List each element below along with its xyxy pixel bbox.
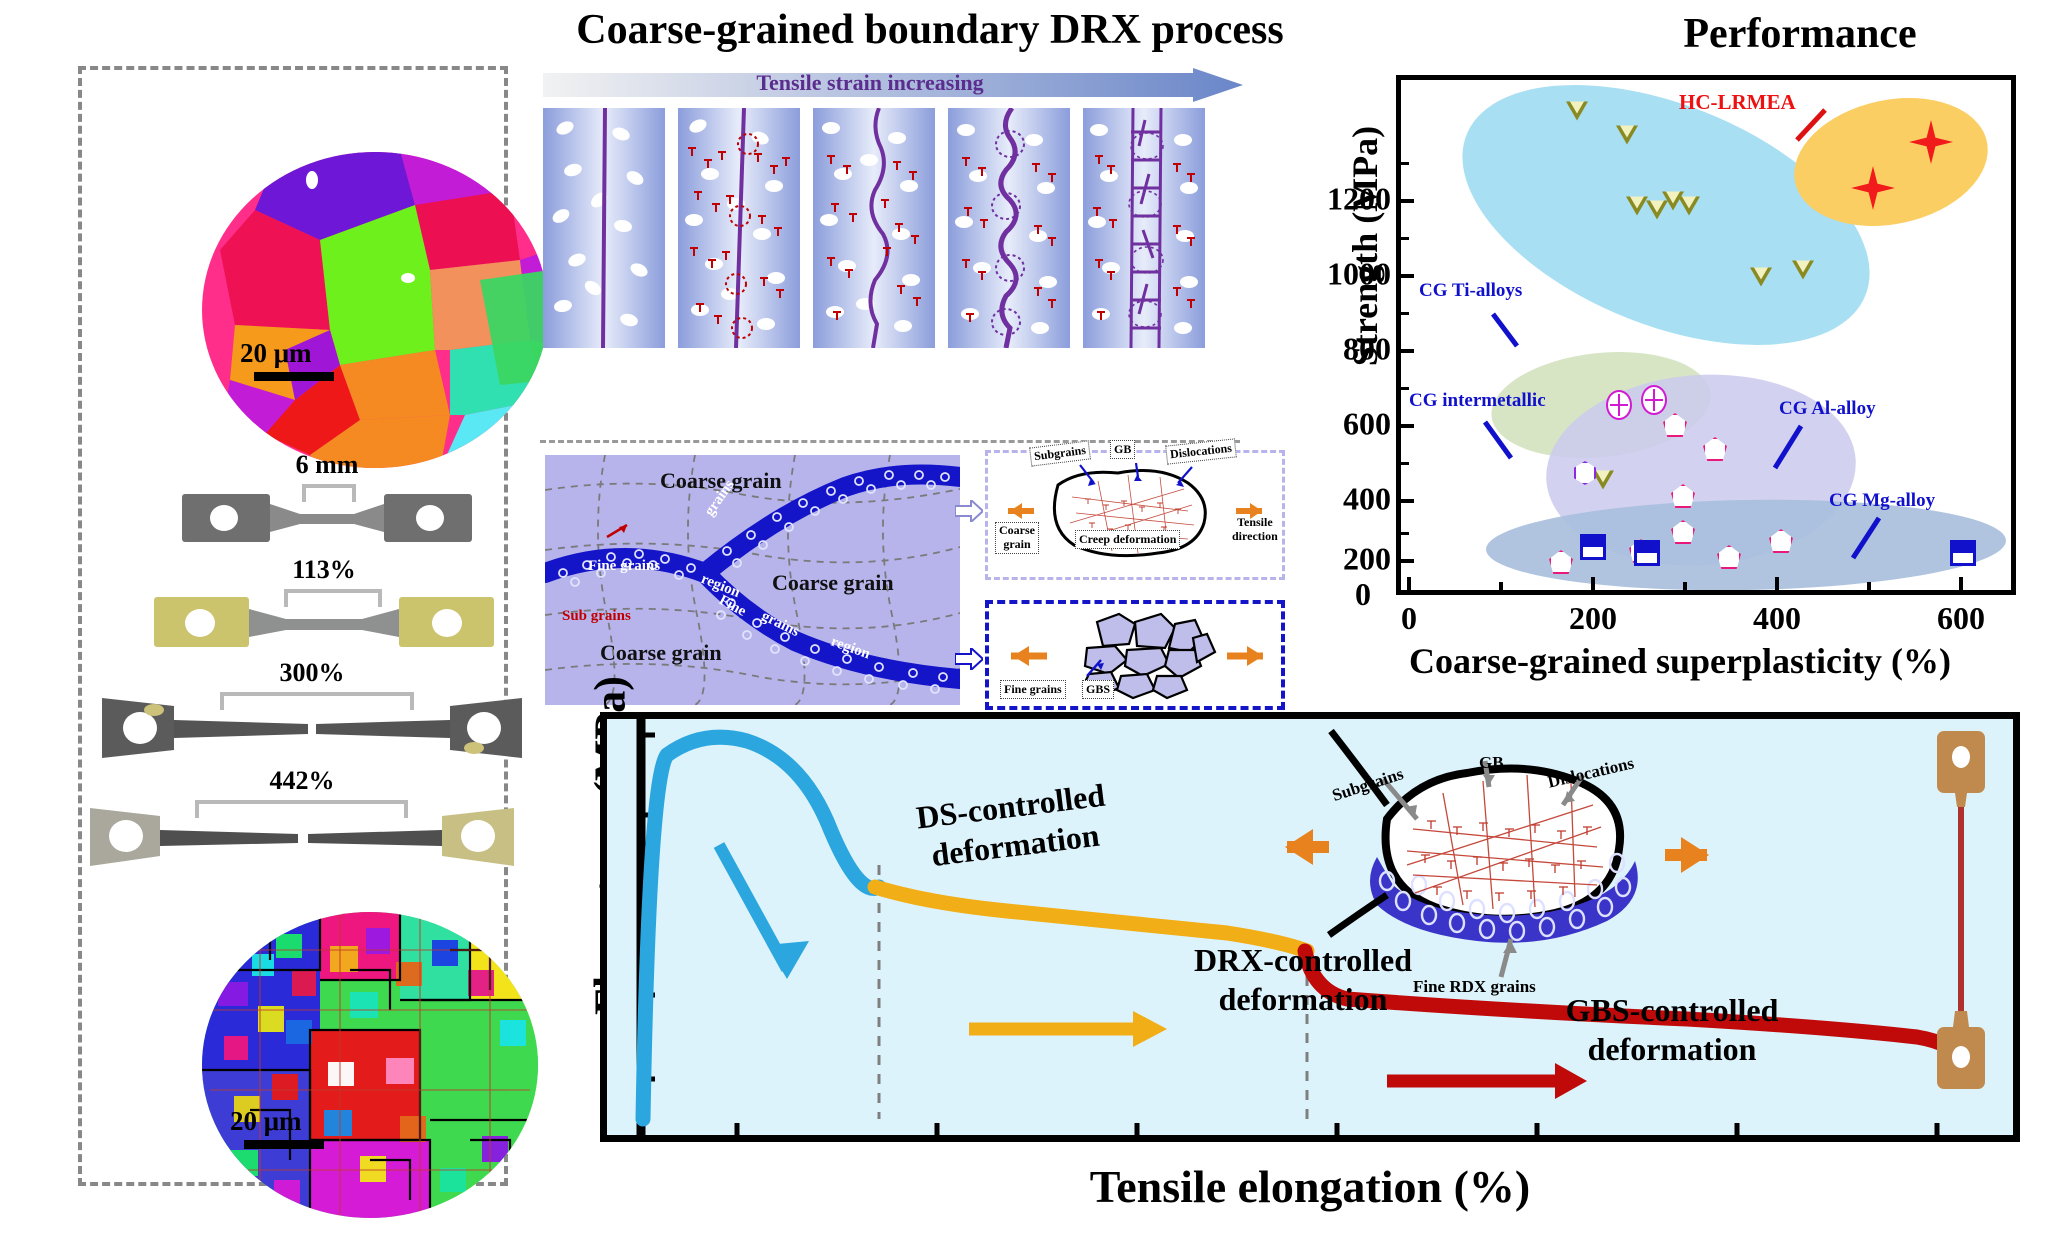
- y-tick-label-600: 600: [1343, 406, 1391, 443]
- region-label-al: CG Al-alloy: [1779, 398, 1876, 420]
- hc-lrmea-label: HC-LRMEA: [1679, 90, 1796, 115]
- y-tick-minor-1: [1401, 162, 1409, 165]
- ebsd-top-scale-label: 20 μm: [240, 338, 312, 369]
- y-tick-minor-5: [1401, 462, 1409, 465]
- gbs-region-label: GBS-controlled deformation: [1507, 991, 1837, 1069]
- marker-ti-6: [1678, 197, 1700, 216]
- ebsd-top-scale-bar: [254, 372, 334, 381]
- drx-stage-1: [543, 108, 665, 348]
- ebsd-map-deformed: [200, 910, 540, 1220]
- y-tick-1000: [1401, 274, 1414, 278]
- marker-mg-3: [1950, 540, 1976, 566]
- x-tick-600: [1959, 577, 1963, 590]
- inset-label-fine-rdx: Fine RDX grains: [1413, 977, 1536, 997]
- flow-arrow-right-2: [955, 648, 983, 675]
- y-tick-label-800: 800: [1343, 331, 1391, 368]
- measure-bracket: [302, 484, 356, 502]
- drx-stage-5: [1083, 108, 1205, 348]
- y-tick-label-1000: 1000: [1327, 256, 1391, 293]
- drx-process-title: Coarse-grained boundary DRX process: [510, 6, 1350, 54]
- marker-mg-2: [1634, 540, 1660, 566]
- scatter-y-axis-title: Strength (MPa): [1344, 66, 1386, 426]
- y-tick-label-400: 400: [1343, 481, 1391, 518]
- specimen-442: 442%: [90, 796, 514, 874]
- gbs-label-fine-grains: Fine grains: [1000, 680, 1066, 699]
- y-tick-600: [1401, 424, 1414, 428]
- x-tick-label-0: 0: [1401, 600, 1417, 637]
- creep-label-creep-deformation: Creep deformation: [1075, 530, 1180, 549]
- y-tick-400: [1401, 499, 1414, 503]
- x-tick-400: [1775, 577, 1779, 590]
- marker-ti-3: [1626, 197, 1648, 216]
- ebsd-bottom-scale-label: 20 μm: [230, 1106, 302, 1137]
- tensile-strain-label: Tensile strain increasing: [560, 70, 1180, 96]
- ebsd-bottom-scale-bar: [244, 1140, 324, 1149]
- x-tick-minor-1: [1499, 582, 1503, 590]
- marker-ti-1: [1566, 102, 1588, 121]
- drx-stage-3: [813, 108, 935, 348]
- specimen-300: 300%: [102, 688, 522, 766]
- gbs-label-gbs: GBS: [1082, 680, 1114, 699]
- y-tick-minor-3: [1401, 312, 1409, 315]
- x-tick-200: [1591, 577, 1595, 590]
- performance-title: Performance: [1590, 10, 2010, 58]
- y-tick-200: [1401, 559, 1414, 563]
- measure-bracket: [220, 692, 414, 710]
- x-tick-minor-3: [1867, 582, 1871, 590]
- specimen-6mm: 6 mm: [182, 480, 472, 552]
- y-tick-minor-2: [1401, 237, 1409, 240]
- creep-label-gb: GB: [1110, 440, 1135, 459]
- measure-bracket: [284, 589, 382, 607]
- region-label-mg: CG Mg-alloy: [1829, 490, 1935, 512]
- marker-ti-2: [1616, 126, 1638, 145]
- marker-intermetallic-2: [1641, 385, 1667, 415]
- specimen-113: 113%: [154, 585, 494, 657]
- region-label-intermetallic: CG intermetallic: [1409, 390, 1546, 412]
- y-tick-label-1200: 1200: [1327, 181, 1391, 218]
- x-tick-label-400: 400: [1753, 600, 1801, 637]
- scatter-x-axis-title: Coarse-grained superplasticity (%): [1290, 640, 2048, 682]
- x-tick-label-600: 600: [1937, 600, 1985, 637]
- x-tick-label-200: 200: [1569, 600, 1617, 637]
- marker-intermetallic-1: [1606, 390, 1632, 420]
- y-tick-label-200: 200: [1343, 541, 1391, 578]
- marker-mg-1: [1580, 534, 1606, 560]
- region-label-ti: CG Ti-alloys: [1419, 280, 1522, 302]
- grain-label-sub-grains: Sub grains: [562, 608, 631, 625]
- marker-ti-8: [1792, 261, 1814, 280]
- inset-label-gb: GB: [1479, 753, 1504, 773]
- measure-bracket: [195, 800, 408, 818]
- x-tick-0: [1407, 577, 1411, 590]
- y-tick-minor-4: [1401, 387, 1409, 390]
- y-tick-800: [1401, 349, 1414, 353]
- marker-ti-7: [1750, 268, 1772, 287]
- ebsd-map-coarse-grain: [200, 150, 550, 470]
- y-tick-1200: [1401, 199, 1414, 203]
- creep-label-coarse-grain: Coarsegrain: [995, 522, 1039, 554]
- flow-chart-x-axis-title: Tensile elongation (%): [880, 1160, 1740, 1213]
- left-panel: 20 μm 6 mm 113% 300%: [78, 66, 508, 1186]
- grain-label-coarse-2: Coarse grain: [772, 570, 894, 596]
- flow-stress-chart: DS-controlled deformation DRX-controlled…: [600, 712, 2020, 1142]
- scatter-origin-label: 0: [1355, 576, 1371, 613]
- creep-label-tensile-direction: Tensiledirection: [1232, 516, 1278, 544]
- drx-stage-2: [678, 108, 800, 348]
- performance-scatter-plot: 1200 1000 800 600 400 200 0 200 400 600: [1396, 75, 2016, 595]
- drx-stage-4: [948, 108, 1070, 348]
- x-tick-minor-2: [1683, 582, 1687, 590]
- y-tick-minor-6: [1401, 532, 1409, 535]
- flow-arrow-right-1: [955, 500, 983, 527]
- grain-label-fine-1: Fine grains: [588, 558, 660, 575]
